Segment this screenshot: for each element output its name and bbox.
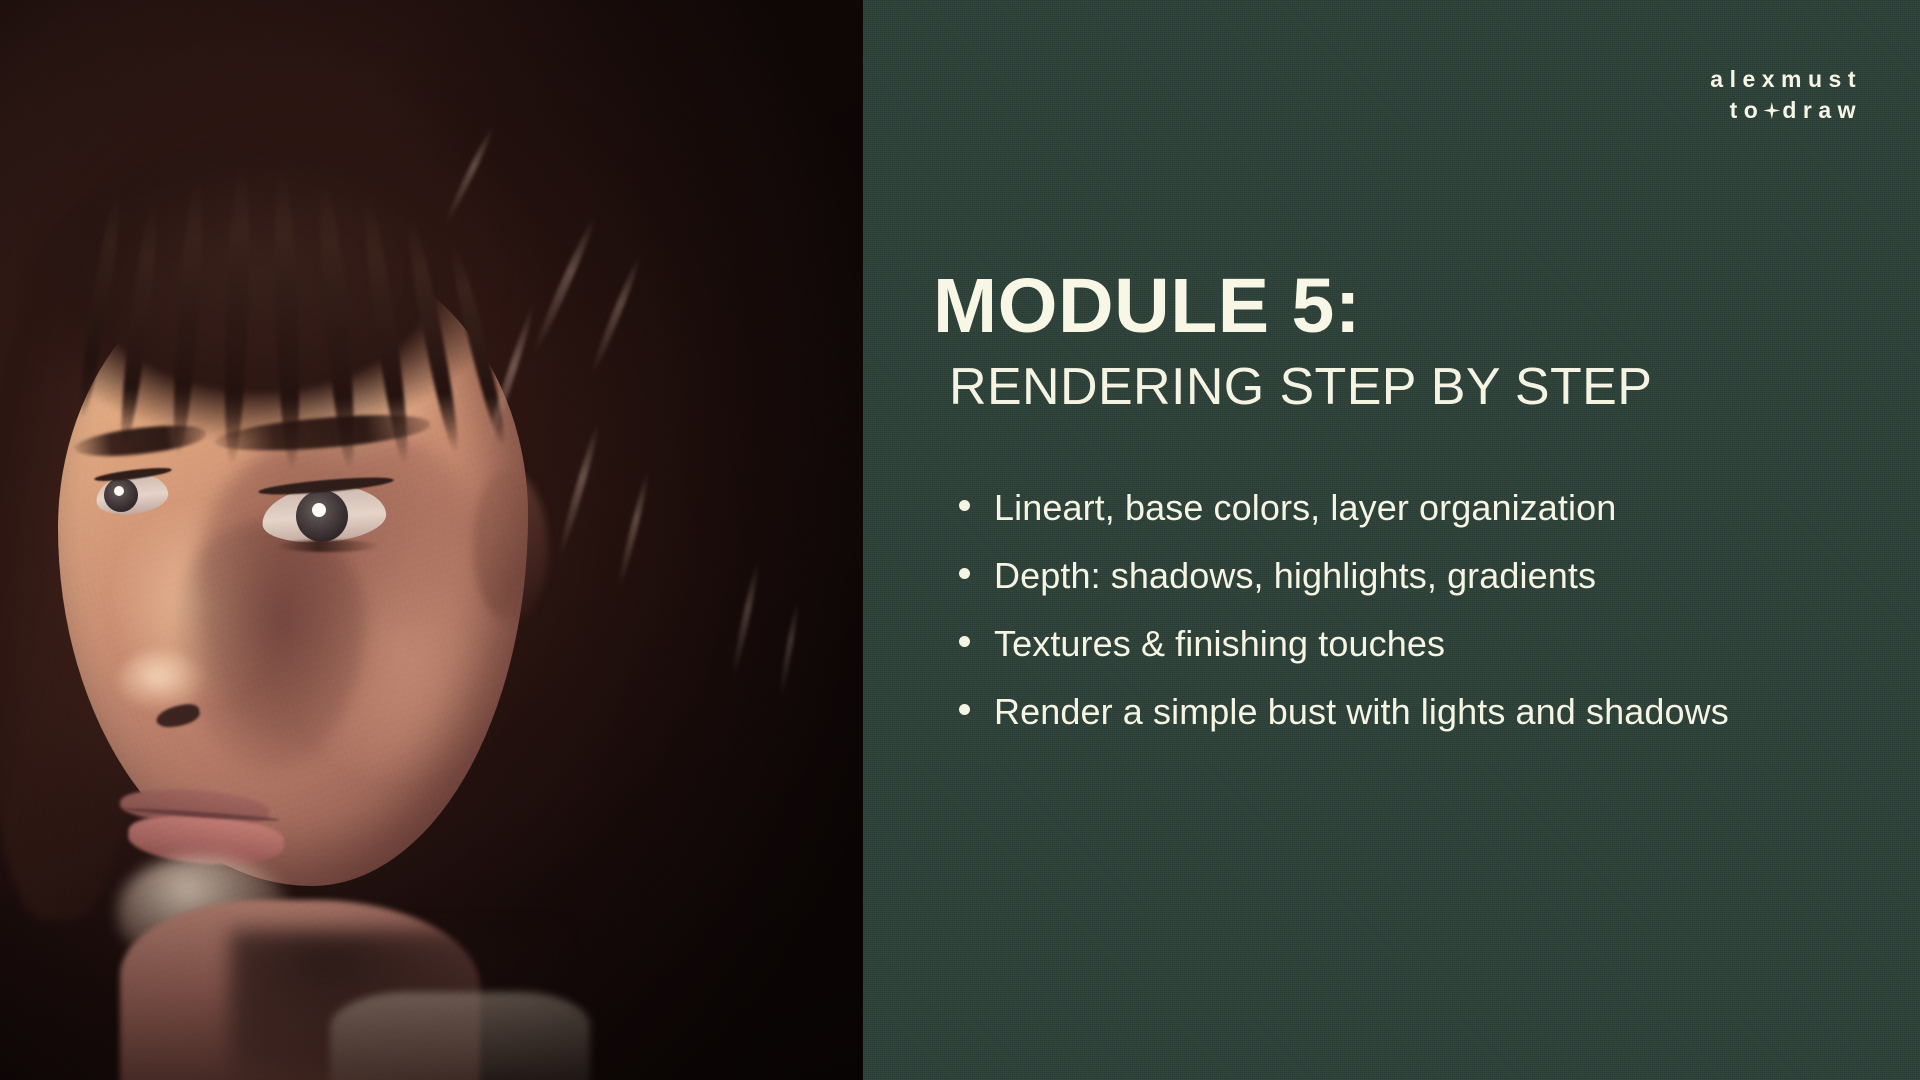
brand-line-2-after: draw xyxy=(1782,99,1862,122)
artwork-vignette xyxy=(0,0,863,1080)
bullet-dot-icon xyxy=(959,568,970,579)
bullet-list: Lineart, base colors, layer organization… xyxy=(959,490,1920,762)
list-item: Depth: shadows, highlights, gradients xyxy=(959,558,1920,594)
list-item: Lineart, base colors, layer organization xyxy=(959,490,1920,526)
list-item: Render a simple bust with lights and sha… xyxy=(959,694,1920,730)
brand-logo[interactable]: alexmust to draw xyxy=(1710,68,1862,122)
content-panel: alexmust to draw MODULE 5: RENDERING STE… xyxy=(863,0,1920,1080)
list-item-label: Textures & finishing touches xyxy=(994,626,1445,662)
page-title: MODULE 5: xyxy=(933,268,1920,345)
list-item: Textures & finishing touches xyxy=(959,626,1920,662)
bullet-dot-icon xyxy=(959,500,970,511)
slide-root: alexmust to draw MODULE 5: RENDERING STE… xyxy=(0,0,1920,1080)
portrait-artwork xyxy=(0,0,863,1080)
bullet-dot-icon xyxy=(959,704,970,715)
list-item-label: Depth: shadows, highlights, gradients xyxy=(994,558,1596,594)
page-subtitle: RENDERING STEP BY STEP xyxy=(949,361,1920,413)
brand-line-1: alexmust xyxy=(1710,68,1862,91)
list-item-label: Lineart, base colors, layer organization xyxy=(994,490,1616,526)
bullet-dot-icon xyxy=(959,636,970,647)
four-point-star-icon xyxy=(1763,102,1780,119)
brand-line-2-before: to xyxy=(1730,99,1765,122)
list-item-label: Render a simple bust with lights and sha… xyxy=(994,694,1729,730)
brand-line-2: to draw xyxy=(1710,99,1862,122)
heading-block: MODULE 5: RENDERING STEP BY STEP xyxy=(933,268,1920,413)
